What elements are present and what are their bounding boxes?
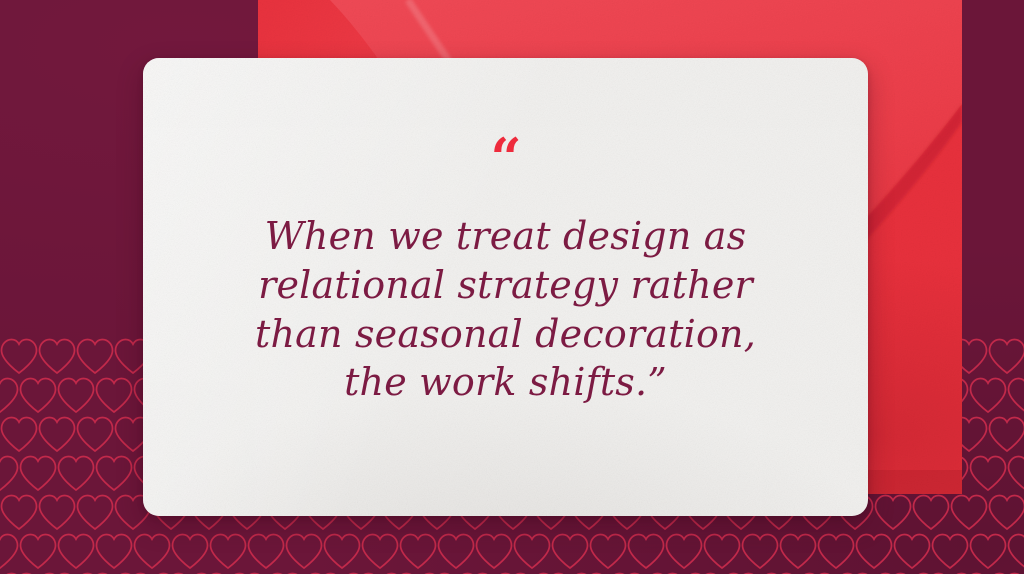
card-content: “ When we treat design as relational str… [143, 58, 868, 516]
quote-text: When we treat design as relational strat… [226, 212, 786, 407]
quote-card-graphic: “ When we treat design as relational str… [0, 0, 1024, 574]
greeting-card: “ When we treat design as relational str… [143, 58, 868, 516]
quote-open-mark: “ [490, 142, 520, 174]
